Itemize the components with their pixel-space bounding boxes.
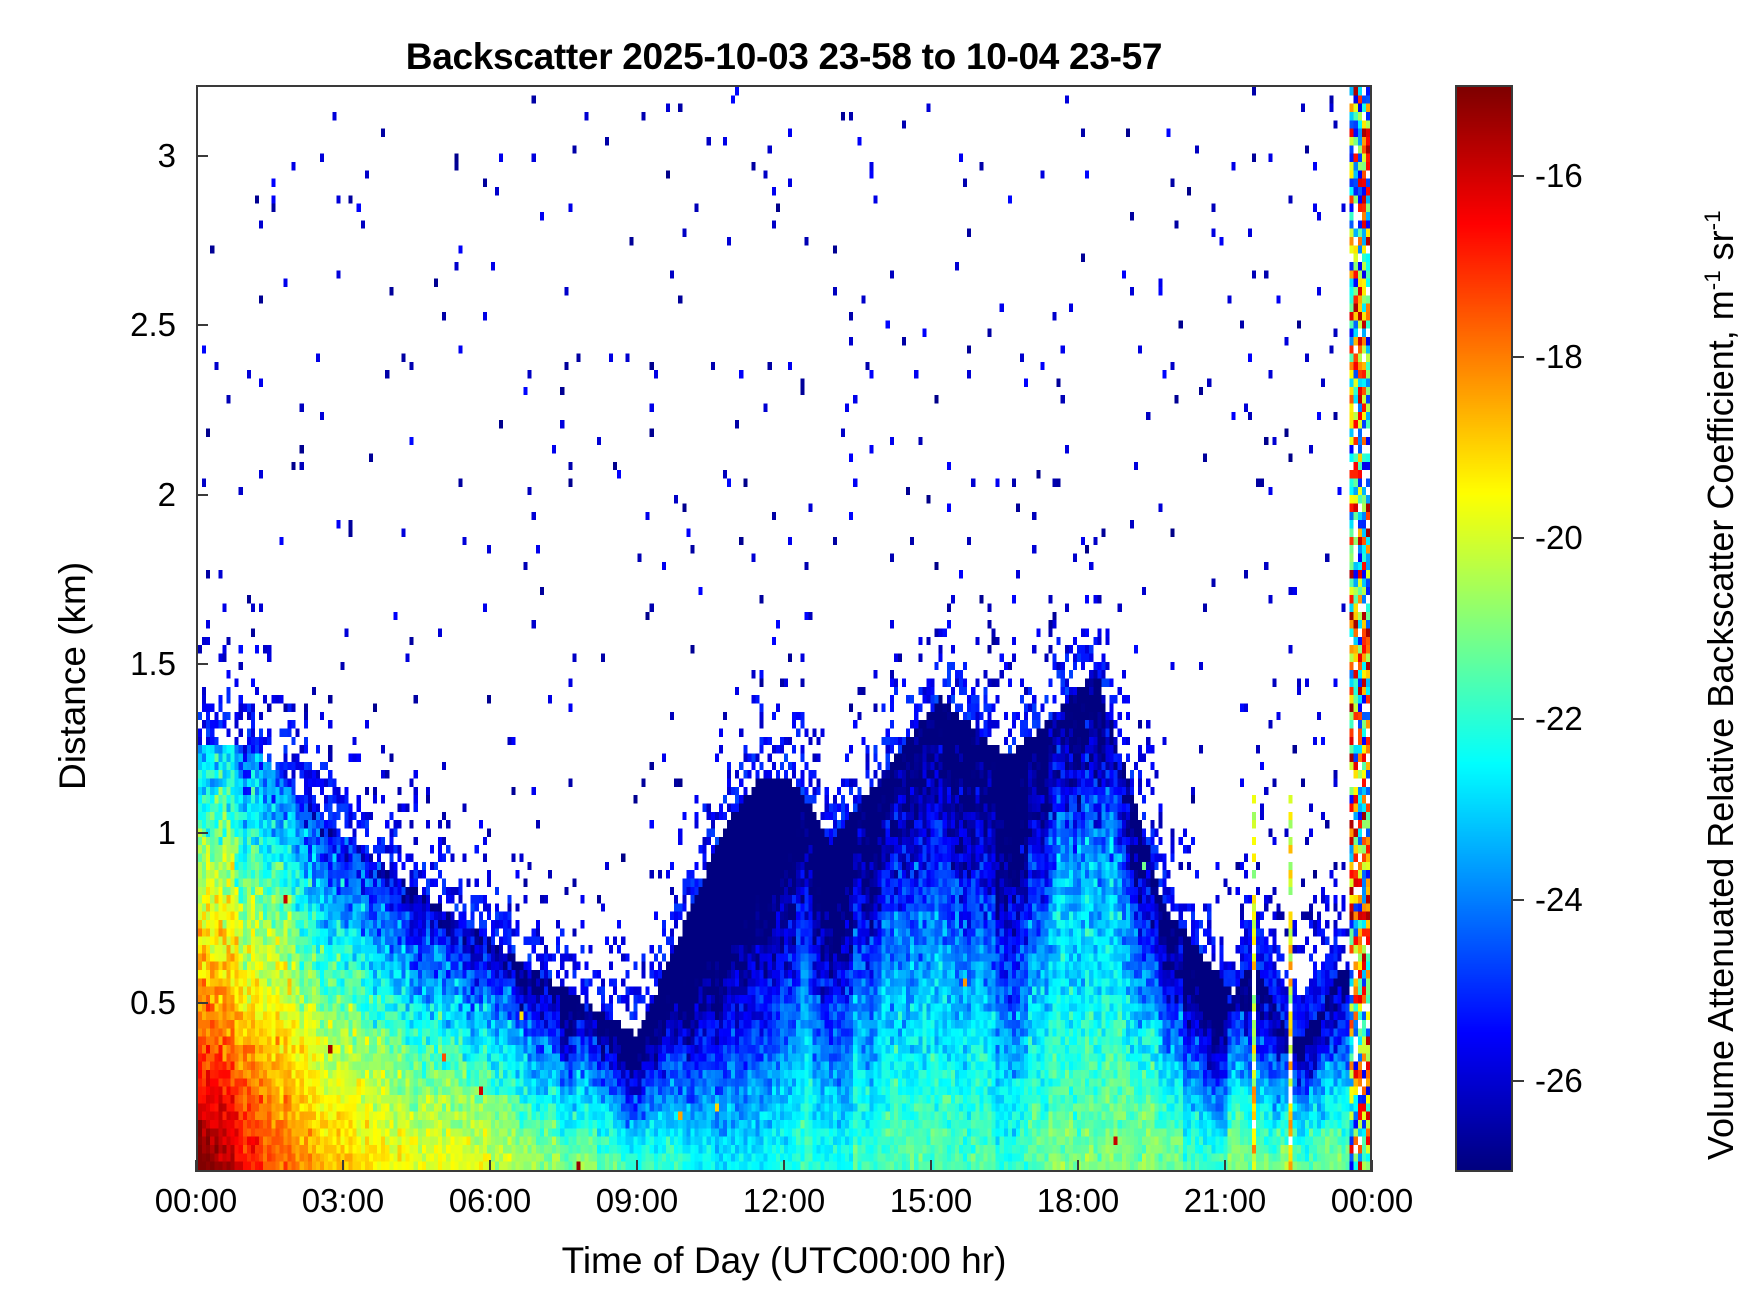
colorbar-tick <box>1513 175 1524 177</box>
colorbar[interactable] <box>1455 85 1513 1172</box>
colorbar-gradient <box>1457 87 1511 1170</box>
colorbar-label-main: Volume Attenuated Relative Backscatter C… <box>1700 290 1741 1160</box>
y-axis-tick <box>196 494 208 496</box>
x-axis-ticklabel: 00:00 <box>155 1182 238 1220</box>
colorbar-ticklabel: -24 <box>1535 881 1583 919</box>
x-axis-ticklabel: 03:00 <box>302 1182 385 1220</box>
y-axis-label: Distance (km) <box>52 562 94 790</box>
x-axis-ticklabel: 15:00 <box>890 1182 973 1220</box>
x-axis-tick <box>783 1160 785 1172</box>
figure-canvas: Backscatter 2025-10-03 23-58 to 10-04 23… <box>0 0 1750 1313</box>
x-axis-tick <box>1077 1160 1079 1172</box>
backscatter-heatmap <box>198 87 1370 1170</box>
colorbar-tick <box>1513 718 1524 720</box>
colorbar-tick <box>1513 899 1524 901</box>
x-axis-ticklabel: 12:00 <box>743 1182 826 1220</box>
y-axis-ticklabel: 1 <box>36 814 176 852</box>
colorbar-tick <box>1513 356 1524 358</box>
y-axis-ticklabel: 3 <box>36 137 176 175</box>
heatmap-axes[interactable] <box>196 85 1372 1172</box>
x-axis-tick <box>1224 1160 1226 1172</box>
x-axis-tick <box>636 1160 638 1172</box>
x-axis-ticklabel: 21:00 <box>1184 1182 1267 1220</box>
colorbar-ticklabel: -16 <box>1535 157 1583 195</box>
x-axis-ticklabel: 09:00 <box>596 1182 679 1220</box>
x-axis-tick <box>195 1160 197 1172</box>
colorbar-label-exp1: -1 <box>1700 270 1725 290</box>
colorbar-ticklabel: -22 <box>1535 700 1583 738</box>
colorbar-label: Volume Attenuated Relative Backscatter C… <box>1700 211 1742 1161</box>
x-axis-ticklabel: 18:00 <box>1037 1182 1120 1220</box>
x-axis-tick <box>930 1160 932 1172</box>
y-axis-tick <box>196 663 208 665</box>
x-axis-tick <box>489 1160 491 1172</box>
y-axis-tick <box>196 155 208 157</box>
colorbar-ticklabel: -18 <box>1535 338 1583 376</box>
x-axis-ticklabel: 00:00 <box>1331 1182 1414 1220</box>
x-axis-label: Time of Day (UTC00:00 hr) <box>196 1240 1372 1282</box>
x-axis-tick <box>1371 1160 1373 1172</box>
y-axis-ticklabel: 2 <box>36 476 176 514</box>
colorbar-ticklabel: -20 <box>1535 519 1583 557</box>
y-axis-tick <box>196 832 208 834</box>
y-axis-tick <box>196 1002 208 1004</box>
colorbar-tick <box>1513 537 1524 539</box>
colorbar-label-mid: sr <box>1700 230 1741 270</box>
colorbar-ticklabel: -26 <box>1535 1062 1583 1100</box>
page-title: Backscatter 2025-10-03 23-58 to 10-04 23… <box>196 36 1372 78</box>
x-axis-ticklabel: 06:00 <box>449 1182 532 1220</box>
y-axis-ticklabel: 2.5 <box>36 306 176 344</box>
y-axis-ticklabel: 0.5 <box>36 984 176 1022</box>
colorbar-tick <box>1513 1080 1524 1082</box>
x-axis-tick <box>342 1160 344 1172</box>
colorbar-label-exp2: -1 <box>1700 211 1725 231</box>
y-axis-tick <box>196 324 208 326</box>
